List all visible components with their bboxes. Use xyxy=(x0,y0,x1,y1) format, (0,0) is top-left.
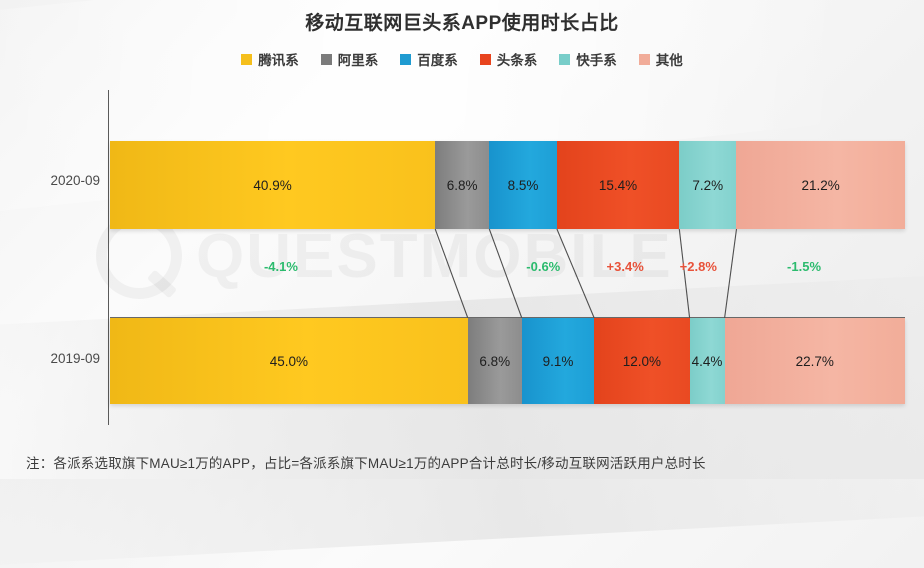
delta-label-toutiao: +2.8% xyxy=(680,259,717,274)
y-axis-tick-label-2019: 2019-09 xyxy=(8,351,100,366)
bar-segment-tencent-2020[interactable]: 40.9% xyxy=(110,141,435,229)
bar-segment-kuaishou-2020[interactable]: 7.2% xyxy=(679,141,736,229)
slide-canvas: QUESTMOBILE 移动互联网巨头系APP使用时长占比 腾讯系 阿里系 百度… xyxy=(0,0,924,479)
bar-series-2019-09: 45.0% 6.8% 9.1% 12.0% 4.4% 22.7% xyxy=(110,318,905,404)
bar-value-label: 8.5% xyxy=(508,178,539,193)
y-axis-line xyxy=(108,90,109,425)
delta-label-baidu: +3.4% xyxy=(607,259,644,274)
bar-value-label: 12.0% xyxy=(623,354,661,369)
bar-segment-toutiao-2020[interactable]: 15.4% xyxy=(557,141,679,229)
bar-value-label: 21.2% xyxy=(802,178,840,193)
bar-value-label: 4.4% xyxy=(692,354,723,369)
bar-segment-baidu-2019[interactable]: 9.1% xyxy=(522,318,594,404)
bar-value-label: 15.4% xyxy=(599,178,637,193)
bar-segment-kuaishou-2019[interactable]: 4.4% xyxy=(690,318,725,404)
bar-segment-other-2020[interactable]: 21.2% xyxy=(736,141,905,229)
bar-segment-baidu-2020[interactable]: 8.5% xyxy=(489,141,557,229)
bar-value-label: 45.0% xyxy=(270,354,308,369)
chart-plot-area: 2020-09 2019-09 40.9% 6.8% 8.5% 15.4% 7.… xyxy=(0,0,924,479)
bar-value-label: 9.1% xyxy=(543,354,574,369)
yoy-delta-band: -4.1% -0.6% +3.4% +2.8% -1.5% xyxy=(110,229,905,318)
bar-value-label: 22.7% xyxy=(796,354,834,369)
bar-segment-toutiao-2019[interactable]: 12.0% xyxy=(594,318,689,404)
bar-value-label: 6.8% xyxy=(479,354,510,369)
bar-value-label: 6.8% xyxy=(447,178,478,193)
delta-label-kuaishou: -1.5% xyxy=(787,259,821,274)
bar-series-2020-09: 40.9% 6.8% 8.5% 15.4% 7.2% 21.2% xyxy=(110,141,905,229)
bar-segment-other-2019[interactable]: 22.7% xyxy=(725,318,905,404)
delta-label-tencent: -4.1% xyxy=(264,259,298,274)
bar-segment-tencent-2019[interactable]: 45.0% xyxy=(110,318,468,404)
y-axis-tick-label-2020: 2020-09 xyxy=(8,173,100,188)
segment-connector-lines xyxy=(110,229,905,318)
bar-value-label: 7.2% xyxy=(692,178,723,193)
bar-segment-alibaba-2019[interactable]: 6.8% xyxy=(468,318,522,404)
footnote-text: 注：各派系选取旗下MAU≥1万的APP，占比=各派系旗下MAU≥1万的APP合计… xyxy=(26,452,706,472)
bar-value-label: 40.9% xyxy=(253,178,291,193)
bar-segment-alibaba-2020[interactable]: 6.8% xyxy=(435,141,489,229)
delta-label-alibaba: -0.6% xyxy=(526,259,560,274)
